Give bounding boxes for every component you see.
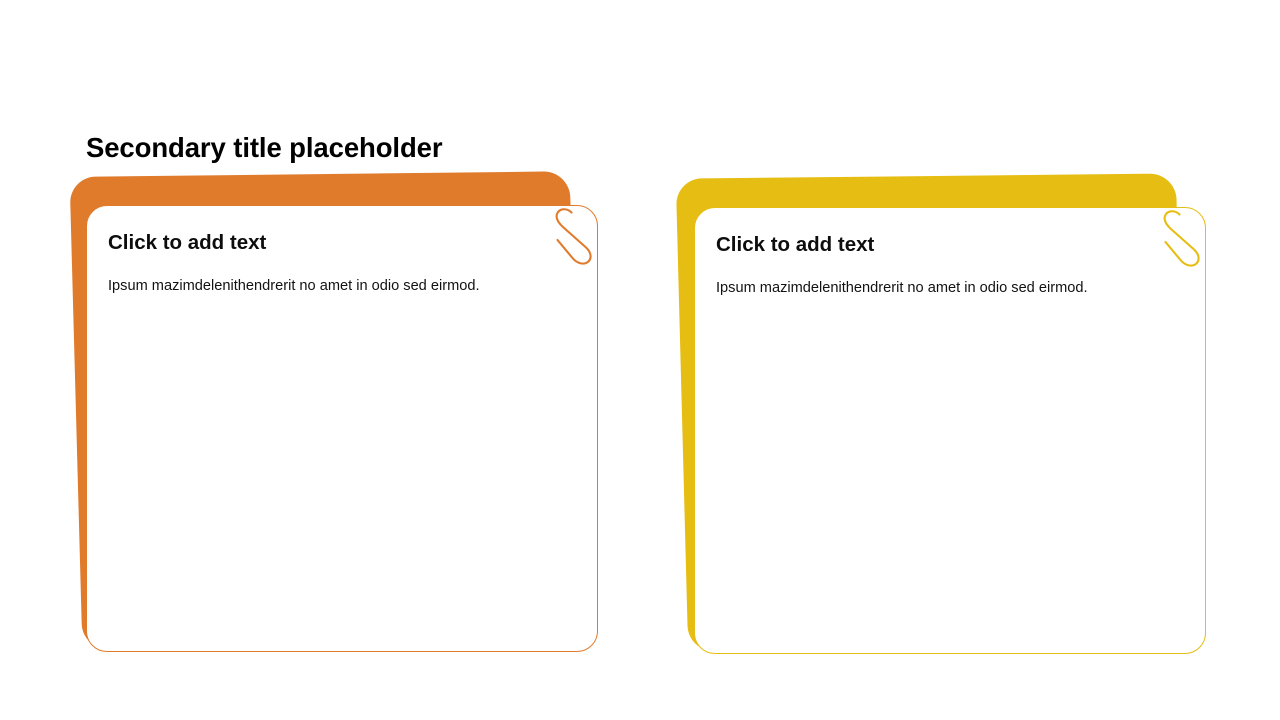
card-heading[interactable]: Click to add text	[716, 233, 874, 258]
slide-canvas: Secondary title placeholder Click to add…	[0, 0, 1280, 720]
content-card-yellow[interactable]: Click to add text Ipsum mazimdelenithend…	[654, 174, 1224, 674]
card-surface-yellow[interactable]: Click to add text Ipsum mazimdelenithend…	[694, 207, 1206, 654]
content-card-orange[interactable]: Click to add text Ipsum mazimdelenithend…	[46, 172, 616, 672]
card-surface-orange[interactable]: Click to add text Ipsum mazimdelenithend…	[86, 205, 598, 652]
card-heading[interactable]: Click to add text	[108, 231, 266, 256]
paperclip-icon	[551, 204, 609, 274]
card-body-text[interactable]: Ipsum mazimdelenithendrerit no amet in o…	[108, 272, 528, 300]
paperclip-icon	[1159, 206, 1217, 276]
page-title[interactable]: Secondary title placeholder	[86, 131, 442, 164]
card-body-text[interactable]: Ipsum mazimdelenithendrerit no amet in o…	[716, 274, 1136, 302]
